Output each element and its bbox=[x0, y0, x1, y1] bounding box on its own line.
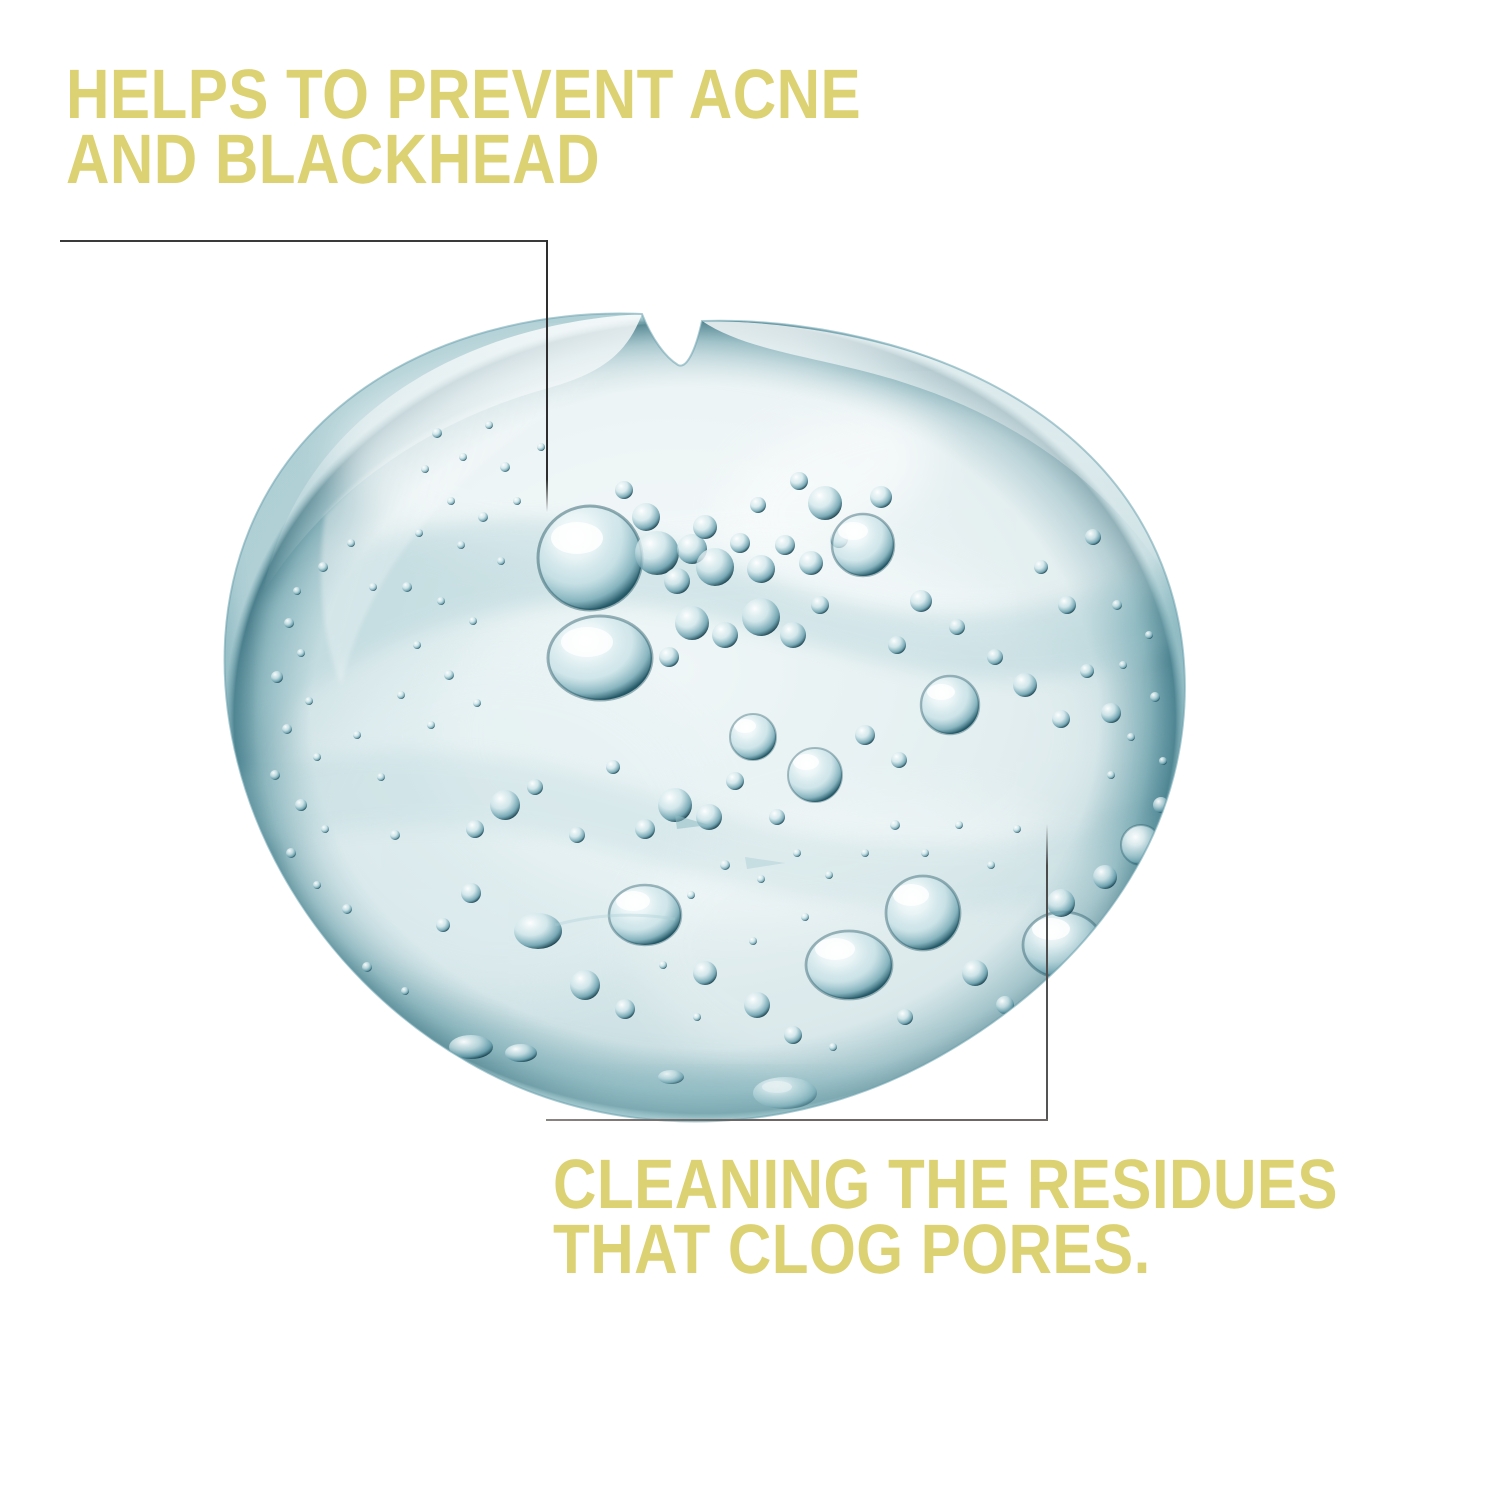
infographic-canvas: HELPS TO PREVENT ACNE AND BLACKHEAD CLEA… bbox=[0, 0, 1500, 1500]
leader-line-bottom-horizontal bbox=[546, 1119, 1048, 1121]
leader-line-top-vertical bbox=[546, 240, 548, 512]
callout-headline-top: HELPS TO PREVENT ACNE AND BLACKHEAD bbox=[66, 62, 861, 192]
leader-line-top-horizontal bbox=[60, 240, 548, 242]
leader-line-bottom-vertical bbox=[1046, 824, 1048, 1120]
callout-headline-bottom: CLEANING THE RESIDUES THAT CLOG PORES. bbox=[553, 1152, 1338, 1282]
